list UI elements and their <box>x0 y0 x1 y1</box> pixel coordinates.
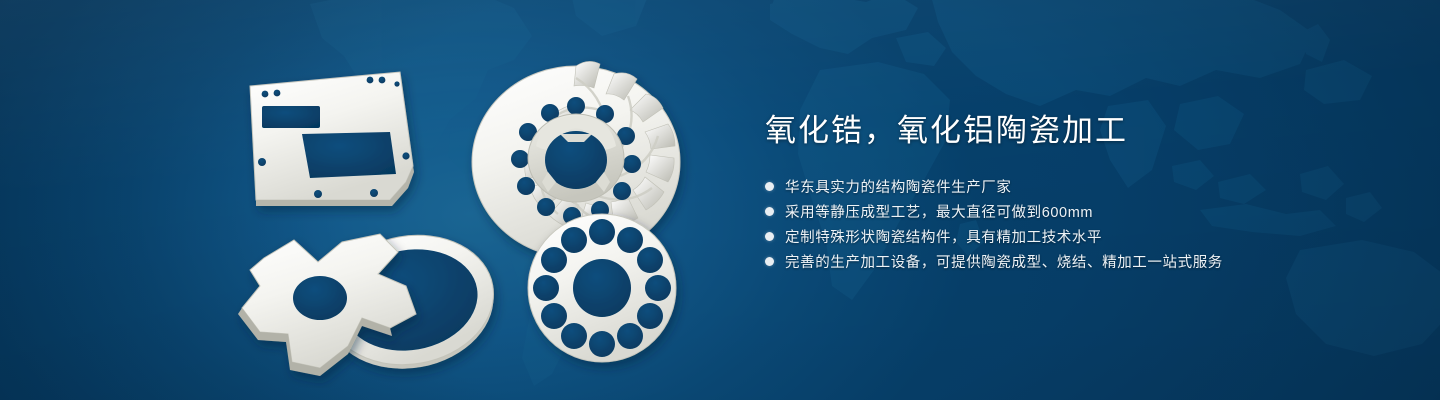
product-mounting-plate <box>250 72 414 206</box>
page-title: 氧化锆，氧化铝陶瓷加工 <box>765 112 1325 150</box>
hero-banner: 氧化锆，氧化铝陶瓷加工 华东具实力的结构陶瓷件生产厂家 采用等静压成型工艺，最大… <box>0 0 1440 400</box>
product-perforated-disc <box>528 214 676 362</box>
ceramic-products-image <box>230 48 700 388</box>
list-item-label: 完善的生产加工设备，可提供陶瓷成型、烧结、精加工一站式服务 <box>785 251 1223 272</box>
bullet-dot-icon <box>765 232 774 241</box>
list-item-label: 采用等静压成型工艺，最大直径可做到600mm <box>785 201 1093 222</box>
bullet-dot-icon <box>765 207 774 216</box>
list-item: 采用等静压成型工艺，最大直径可做到600mm <box>765 199 1325 224</box>
list-item: 华东具实力的结构陶瓷件生产厂家 <box>765 174 1325 199</box>
feature-list: 华东具实力的结构陶瓷件生产厂家 采用等静压成型工艺，最大直径可做到600mm 定… <box>765 174 1325 274</box>
bullet-dot-icon <box>765 182 774 191</box>
list-item: 完善的生产加工设备，可提供陶瓷成型、烧结、精加工一站式服务 <box>765 249 1325 274</box>
list-item: 定制特殊形状陶瓷结构件，具有精加工技术水平 <box>765 224 1325 249</box>
bullet-dot-icon <box>765 257 774 266</box>
list-item-label: 定制特殊形状陶瓷结构件，具有精加工技术水平 <box>785 226 1102 247</box>
banner-copy: 氧化锆，氧化铝陶瓷加工 华东具实力的结构陶瓷件生产厂家 采用等静压成型工艺，最大… <box>765 112 1325 274</box>
list-item-label: 华东具实力的结构陶瓷件生产厂家 <box>785 176 1012 197</box>
